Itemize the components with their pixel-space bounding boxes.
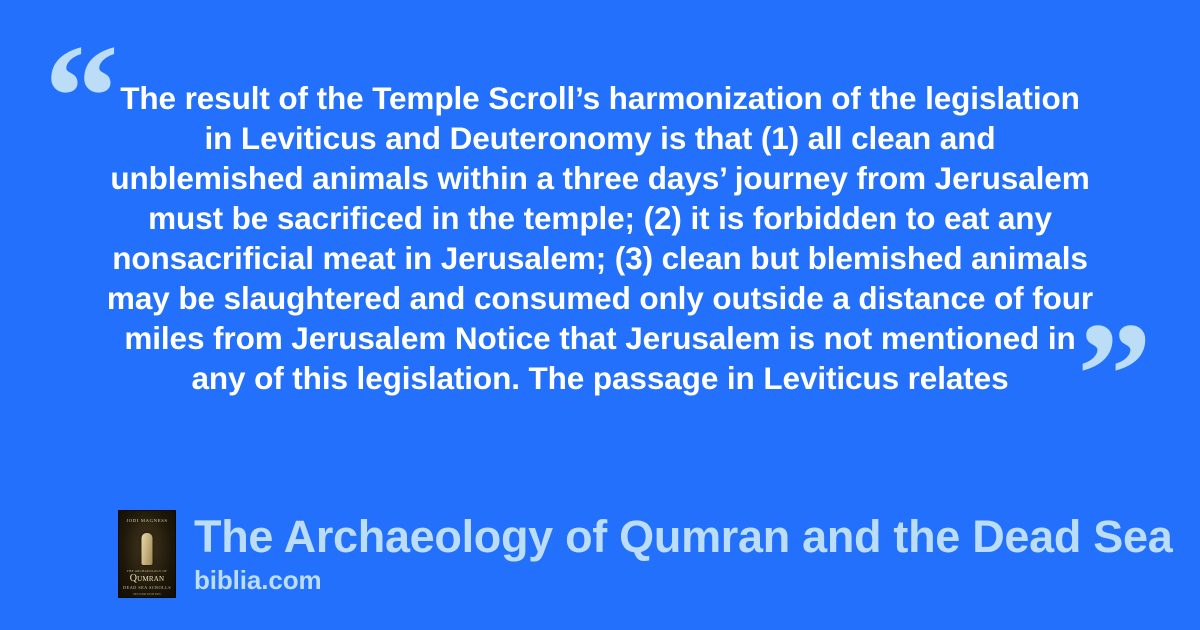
closing-quote-icon: ” — [1077, 300, 1152, 450]
site-name: biblia.com — [194, 565, 1172, 595]
quote-line: nonsacrificial meat in Jerusalem; (3) cl… — [100, 238, 1100, 278]
footer-attribution: Jodi Magness The Archaeology of Qumran D… — [118, 510, 1172, 598]
cover-subtitle: Dead Sea Scrolls — [119, 585, 175, 590]
quote-line: in Leviticus and Deuteronomy is that (1)… — [100, 118, 1100, 158]
quote-line: miles from Jerusalem Notice that Jerusal… — [100, 318, 1100, 358]
quote-block: The result of the Temple Scroll’s harmon… — [100, 78, 1100, 398]
cover-author: Jodi Magness — [119, 518, 175, 523]
quote-line: must be sacrificed in the temple; (2) it… — [100, 198, 1100, 238]
cover-edition: Second Edition — [119, 592, 175, 596]
quote-line: may be slaughtered and consumed only out… — [100, 278, 1100, 318]
quote-line: unblemished animals within a three days’… — [100, 158, 1100, 198]
book-title: The Archaeology of Qumran and the Dead S… — [194, 512, 1172, 562]
quote-line: any of this legislation. The passage in … — [100, 358, 1100, 398]
quote-card: “ The result of the Temple Scroll’s harm… — [0, 0, 1200, 630]
book-cover-thumbnail: Jodi Magness The Archaeology of Qumran D… — [118, 510, 176, 598]
footer-text-group: The Archaeology of Qumran and the Dead S… — [194, 510, 1172, 595]
cover-scroll-illustration — [142, 533, 153, 565]
quote-line: The result of the Temple Scroll’s harmon… — [100, 78, 1100, 118]
cover-title: Qumran — [119, 573, 175, 584]
